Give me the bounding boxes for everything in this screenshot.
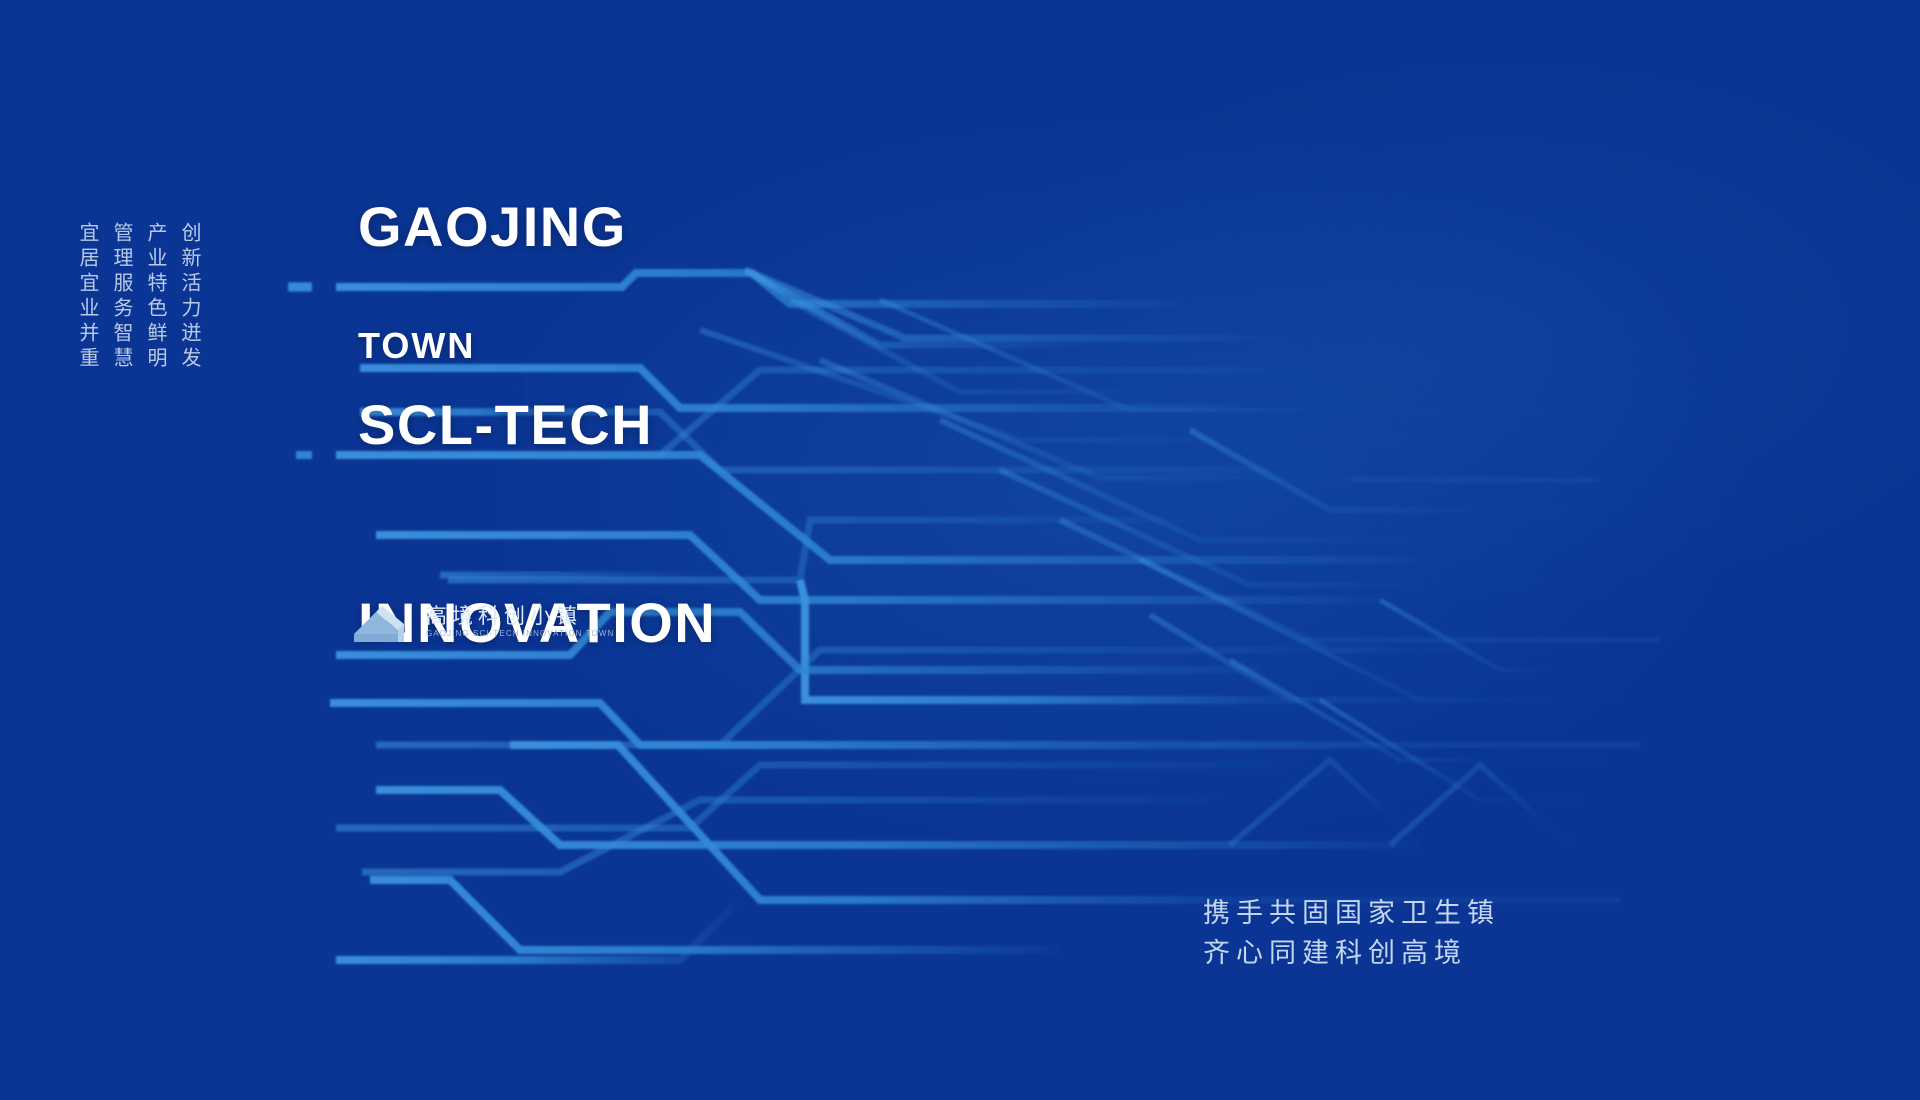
- vertical-slogan-4: 宜居宜业并重: [78, 222, 98, 372]
- logo-lockup: 高境科创小镇 GAOJING SCI-TECH INNOVATION TOWN: [352, 600, 614, 644]
- vertical-slogan-3: 管理服务智慧: [112, 222, 132, 372]
- campaign-slogan-line-2: 齐心同建科创高境: [1203, 938, 1500, 970]
- poster-canvas: GAOJING SCL-TECH INNOVATION TOWN 创新活力迸发 …: [0, 0, 1920, 1100]
- vertical-slogan-2: 产业特色鲜明: [146, 222, 166, 372]
- vertical-slogan-group: 创新活力迸发 产业特色鲜明 管理服务智慧 宜居宜业并重: [78, 222, 200, 372]
- title-line-1: GAOJING: [358, 194, 716, 260]
- campaign-slogan: 携手共固国家卫生镇 齐心同建科创高境: [1203, 898, 1500, 970]
- page-title: GAOJING SCL-TECH INNOVATION: [358, 62, 716, 788]
- campaign-slogan-line-1: 携手共固国家卫生镇: [1203, 898, 1500, 930]
- circuit-trace-artwork: [0, 0, 1920, 1100]
- vertical-slogan-1: 创新活力迸发: [180, 222, 200, 372]
- logo-name-en: GAOJING SCI-TECH INNOVATION TOWN: [426, 630, 614, 638]
- logo-name-cn: 高境科创小镇: [426, 606, 614, 627]
- title-line-4: TOWN: [358, 325, 475, 367]
- house-building-icon: [352, 600, 414, 644]
- background-glow: [0, 0, 1920, 1100]
- logo-text-block: 高境科创小镇 GAOJING SCI-TECH INNOVATION TOWN: [426, 606, 614, 638]
- title-line-2: SCL-TECH: [358, 392, 716, 458]
